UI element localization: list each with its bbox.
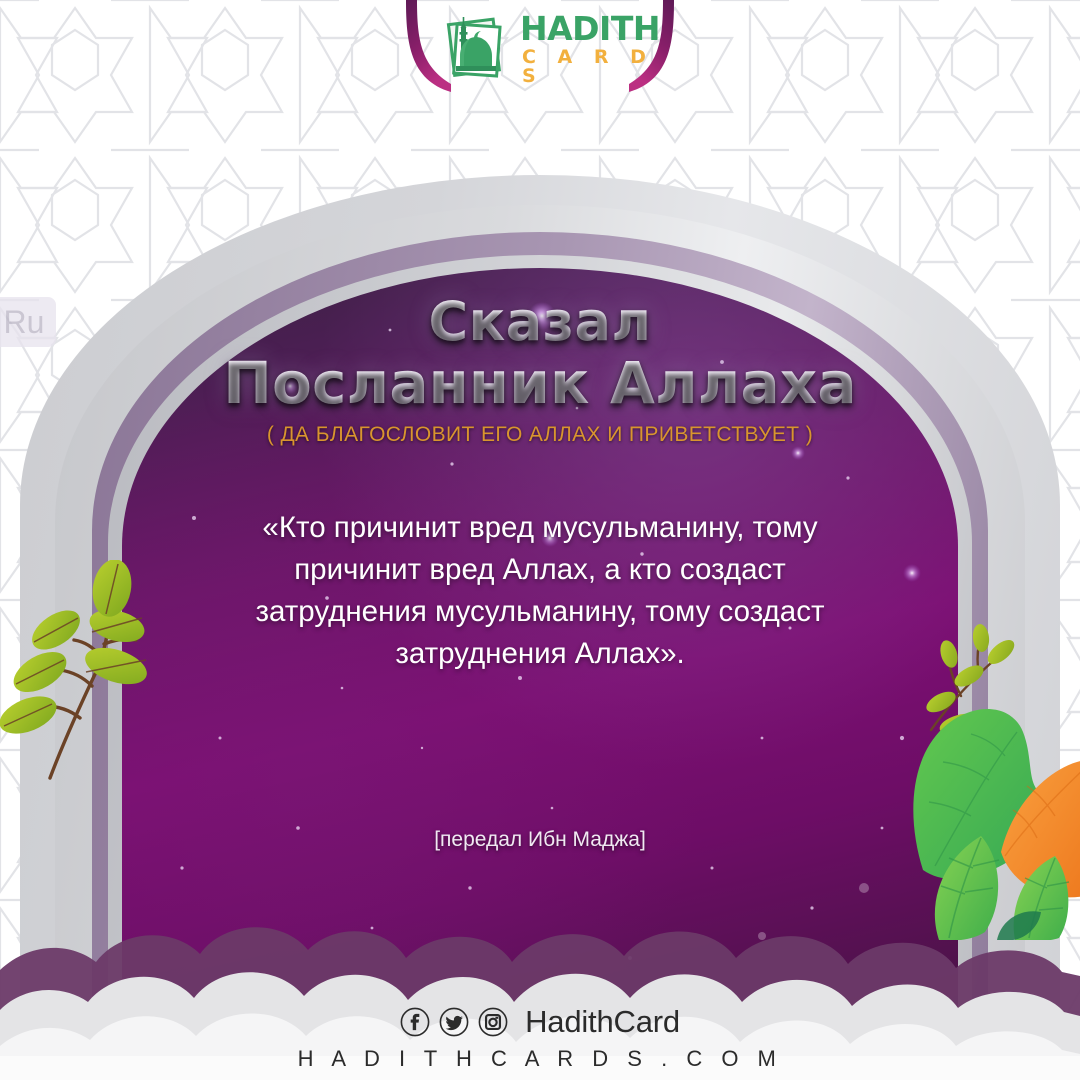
language-badge-ru[interactable]: Ru — [0, 297, 56, 347]
brand-logo[interactable]: HADITH C A R D S — [440, 8, 640, 86]
headline-line-1: Сказал — [122, 290, 958, 353]
logo-primary-text: HADITH — [520, 12, 660, 45]
footer: HadithCard H A D I T H C A R D S . C O M — [0, 1004, 1080, 1072]
footer-social-row: HadithCard — [400, 1004, 680, 1040]
tropical-leaves-right-decoration — [905, 620, 1080, 940]
leaf-branch-left-decoration — [0, 560, 160, 780]
hadith-source-text: [передал Ибн Маджа] — [122, 828, 958, 852]
hadith-card: HADITH C A R D S Ru — [0, 0, 1080, 1080]
mosque-photo-stack-icon — [440, 12, 512, 82]
footer-brand-handle: HadithCard — [525, 1004, 680, 1040]
twitter-icon[interactable] — [439, 1007, 469, 1037]
logo-secondary-text: C A R D S — [522, 48, 660, 86]
footer-website-url[interactable]: H A D I T H C A R D S . C O M — [298, 1046, 783, 1072]
headline-line-2: Посланник Аллаха — [122, 349, 958, 417]
instagram-icon[interactable] — [478, 1007, 508, 1037]
hadith-quote-text: «Кто причинит вред мусульманину, тому пр… — [210, 507, 870, 675]
facebook-icon[interactable] — [400, 1007, 430, 1037]
salutation-text: ( ДА БЛАГОСЛОВИТ ЕГО АЛЛАХ И ПРИВЕТСТВУЕ… — [122, 423, 958, 447]
